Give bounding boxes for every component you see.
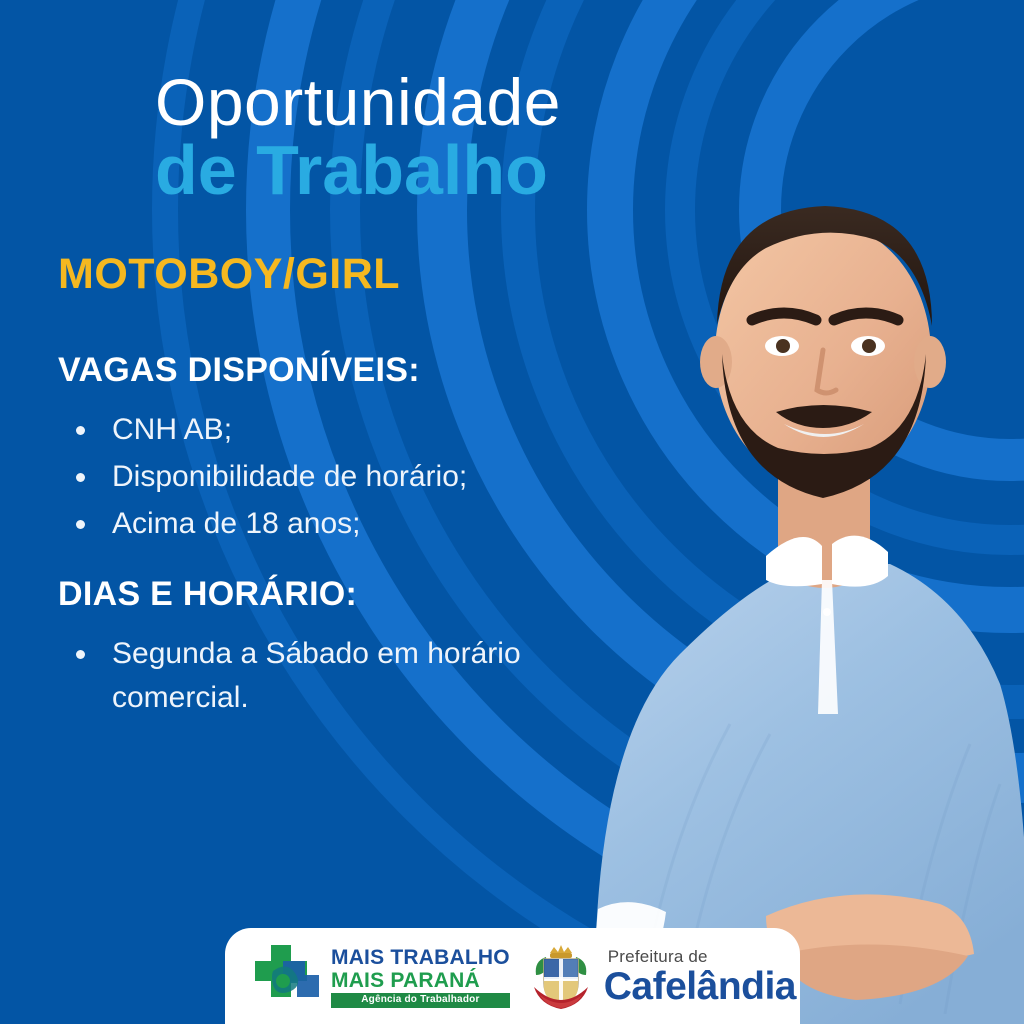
list-item: Acima de 18 anos;: [68, 502, 538, 546]
list-item: Disponibilidade de horário;: [68, 455, 538, 499]
poster-content: Oportunidade de Trabalho MOTOBOY/GIRL VA…: [0, 0, 660, 1024]
title-line-1: Oportunidade: [155, 70, 660, 135]
requirements-list: CNH AB; Disponibilidade de horário; Acim…: [50, 408, 660, 545]
poster-title: Oportunidade de Trabalho: [155, 70, 660, 206]
list-item: Segunda a Sábado em horário comercial.: [68, 632, 538, 720]
job-opportunity-poster: Oportunidade de Trabalho MOTOBOY/GIRL VA…: [0, 0, 1024, 1024]
schedule-list: Segunda a Sábado em horário comercial.: [50, 632, 660, 720]
title-line-2: de Trabalho: [155, 135, 660, 206]
list-item: CNH AB;: [68, 408, 538, 452]
section-heading-dias: DIAS E HORÁRIO:: [58, 575, 660, 614]
section-heading-vagas: VAGAS DISPONÍVEIS:: [58, 351, 660, 390]
job-role-title: MOTOBOY/GIRL: [58, 250, 660, 299]
